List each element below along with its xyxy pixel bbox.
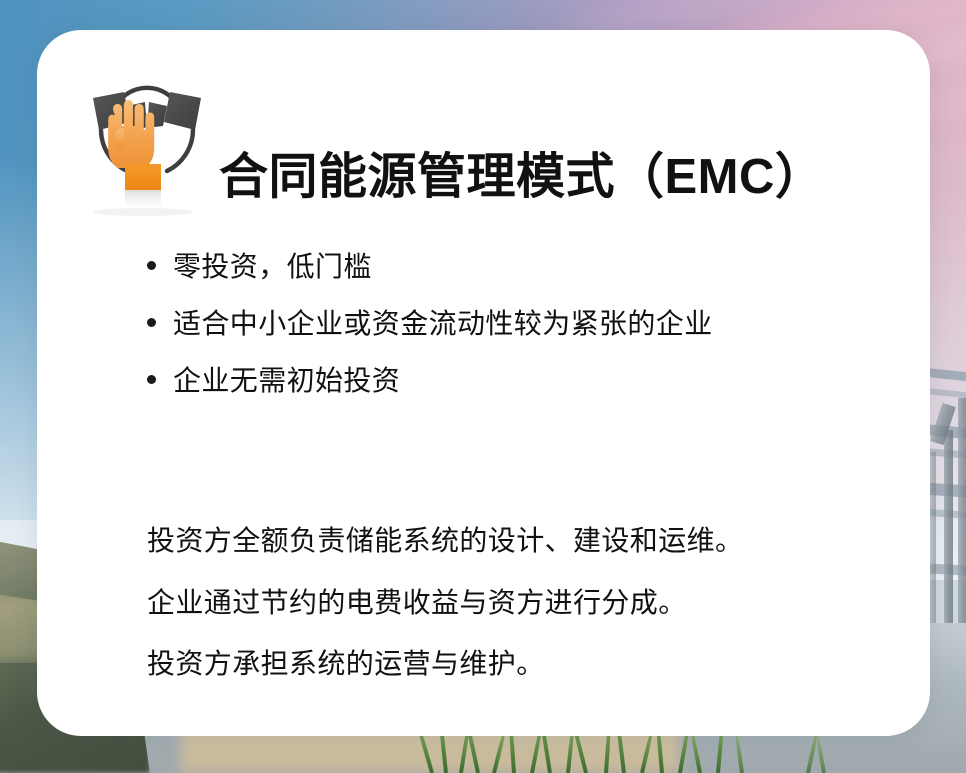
description-line: 投资方承担系统的运营与维护。 [147, 647, 907, 681]
list-item: 企业无需初始投资 [147, 364, 907, 397]
bullet-dot-icon [147, 261, 156, 270]
content-card: 合同能源管理模式（EMC） 零投资，低门槛 适合中小企业或资金流动性较为紧张的企… [37, 30, 930, 736]
list-item: 适合中小企业或资金流动性较为紧张的企业 [147, 307, 907, 340]
feature-bullet-list: 零投资，低门槛 适合中小企业或资金流动性较为紧张的企业 企业无需初始投资 [147, 250, 907, 421]
bullet-dot-icon [147, 375, 156, 384]
description-line: 投资方全额负责储能系统的设计、建设和运维。 [147, 524, 907, 558]
teamwork-hands-circle-icon [83, 66, 211, 216]
description-block: 投资方全额负责储能系统的设计、建设和运维。 企业通过节约的电费收益与资方进行分成… [147, 496, 907, 681]
list-item: 零投资，低门槛 [147, 250, 907, 283]
description-line: 企业通过节约的电费收益与资方进行分成。 [147, 586, 907, 620]
page-title: 合同能源管理模式（EMC） [219, 153, 824, 202]
poster-canvas: 合同能源管理模式（EMC） 零投资，低门槛 适合中小企业或资金流动性较为紧张的企… [0, 0, 966, 773]
card-header: 合同能源管理模式（EMC） [37, 30, 930, 220]
list-item-label: 企业无需初始投资 [173, 364, 400, 397]
list-item-label: 适合中小企业或资金流动性较为紧张的企业 [173, 307, 713, 340]
list-item-label: 零投资，低门槛 [173, 250, 372, 283]
bullet-dot-icon [147, 318, 156, 327]
